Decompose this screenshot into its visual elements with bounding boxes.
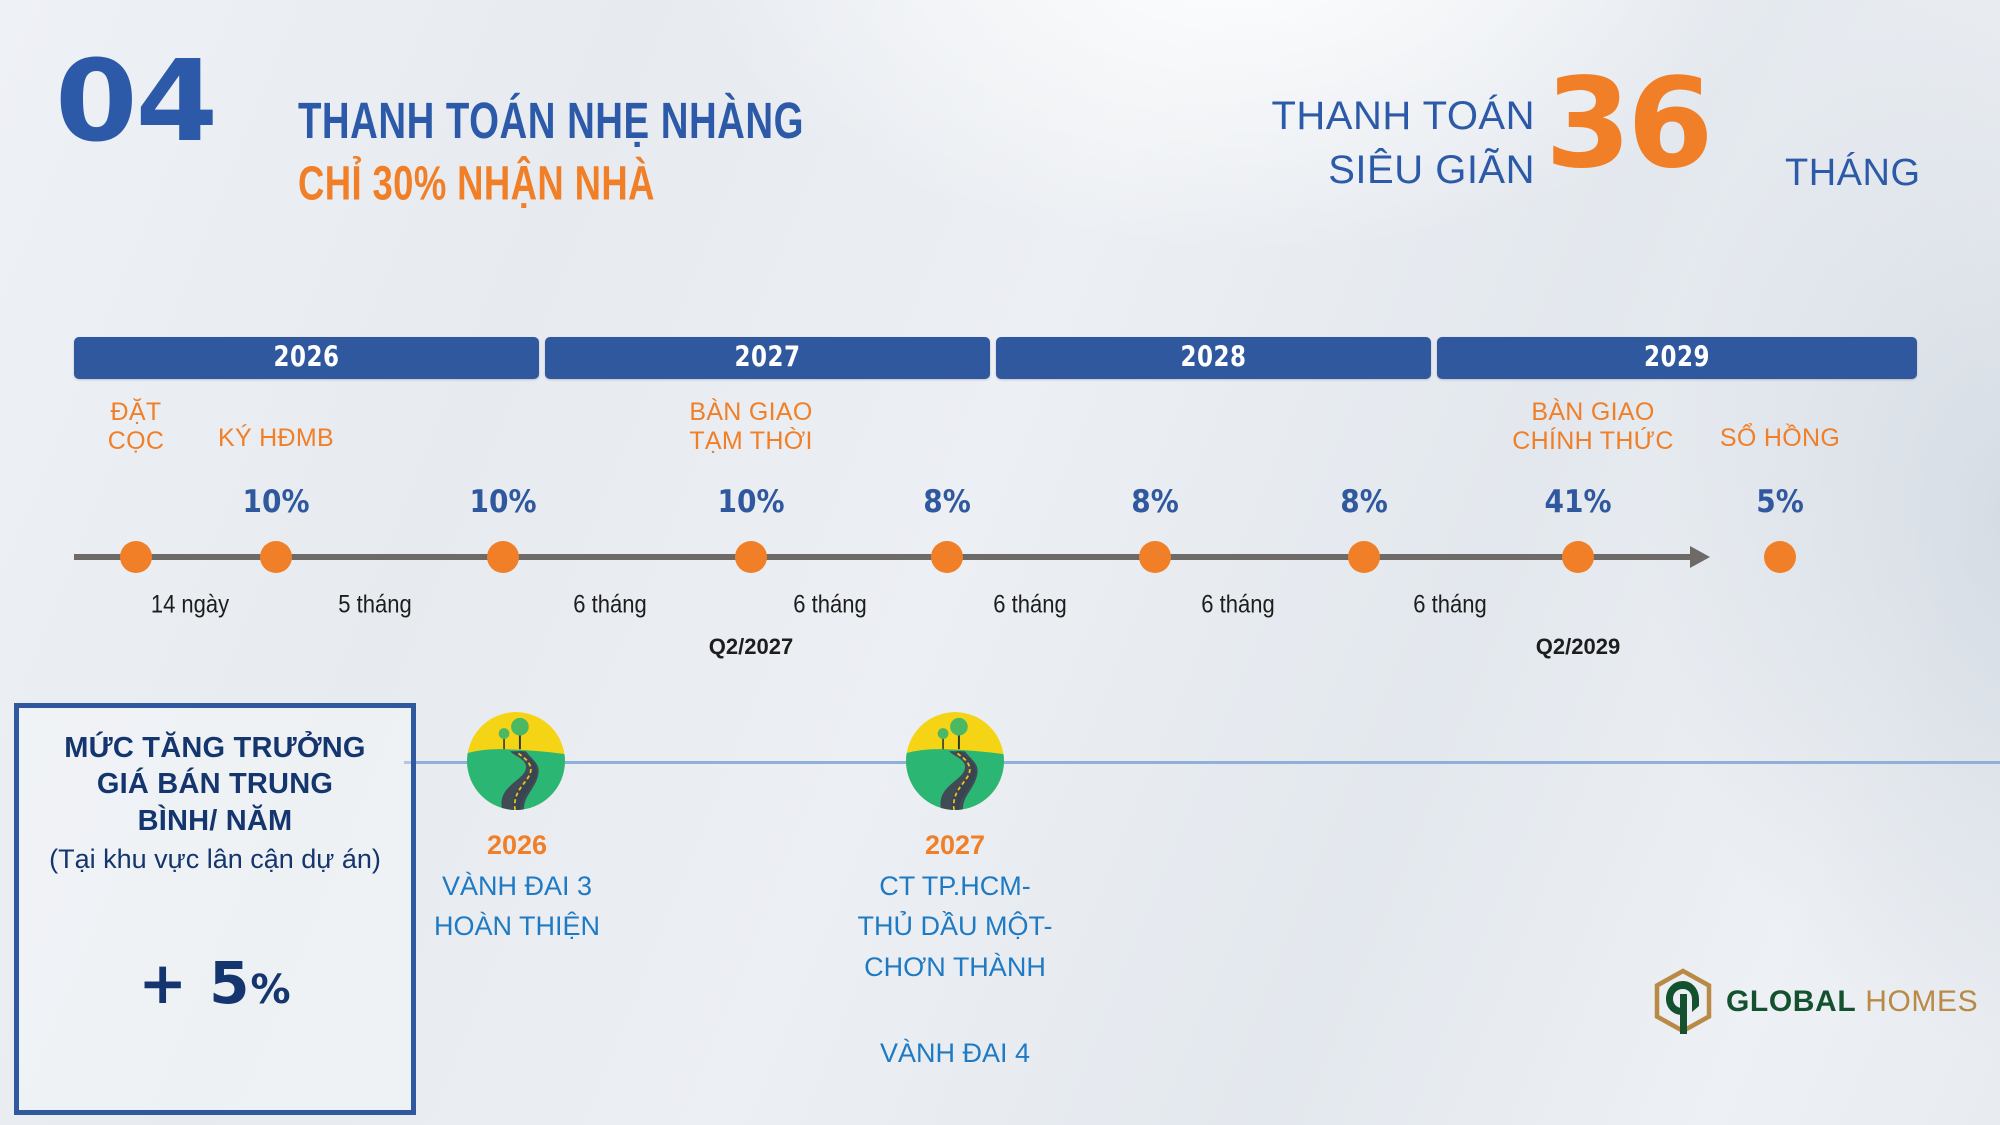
timeline-dot[interactable] [931,541,963,573]
duration-label: 6 tháng [930,590,1130,619]
infra-line: THỦ DẦU MỘT- [805,906,1105,947]
year-bar-label: 2027 [734,342,800,374]
infographic-slide: 04 THANH TOÁN NHẸ NHÀNG CHỈ 30% NHẬN NHÀ… [0,0,2000,1125]
milestone-percent: 10% [176,483,376,519]
duration-label: 5 tháng [275,590,475,619]
growth-title-line: GIÁ BÁN TRUNG [64,766,365,802]
duration-label: 6 tháng [1138,590,1338,619]
timeline-dot[interactable] [735,541,767,573]
infra-line: CT TP.HCM- [805,866,1105,907]
milestone-percent: 8% [1264,483,1464,519]
brand-name: GLOBAL HOMES [1726,985,1978,1019]
infra-connector-line [404,761,2000,764]
infra-extra-label: VÀNH ĐAI 4 [805,1038,1105,1069]
section-number: 04 [55,46,216,158]
infra-year: 2026 [367,825,667,866]
payment-term-months: 36 [1545,62,1710,186]
milestone-percent: 5% [1680,483,1880,519]
growth-box-subtitle: (Tại khu vực lân cận dự án) [27,843,403,877]
duration-label: 6 tháng [730,590,930,619]
milestone-label-line: SỔ HỒNG [1680,424,1880,453]
year-bar-2029: 2029 [1437,337,1917,379]
milestone-percent: 10% [403,483,603,519]
growth-title-line: BÌNH/ NĂM [64,803,365,839]
growth-rate-box: MỨC TĂNG TRƯỞNG GIÁ BÁN TRUNG BÌNH/ NĂM … [14,703,416,1115]
growth-value-number: + 5 [138,949,250,1017]
brand-name-bold: GLOBAL [1726,985,1856,1018]
milestone-label-ban-giao-tam-thoi: BÀN GIAO TẠM THỜI [651,398,851,456]
global-homes-hexagon-icon [1652,968,1714,1036]
road-landscape-icon [906,712,1004,810]
milestone-label-line: CHÍNH THỨC [1478,427,1708,456]
milestone-percent: 41% [1478,483,1678,519]
infra-line: VÀNH ĐAI 3 [367,866,667,907]
duration-label: 14 ngày [90,590,290,619]
page-title-line1: THANH TOÁN NHẸ NHÀNG [298,96,804,147]
year-bar-2028: 2028 [996,337,1431,379]
payment-term-line2: SIÊU GIÃN [1328,148,1535,193]
milestone-label-ky-hdmb: KÝ HĐMB [176,424,376,453]
timeline-axis [74,554,1694,560]
growth-title-line: MỨC TĂNG TRƯỞNG [64,730,365,766]
milestone-label-line: KÝ HĐMB [176,424,376,453]
timeline-arrow-icon [1690,546,1710,568]
infra-year: 2027 [805,825,1105,866]
payment-term-line1: THANH TOÁN [1271,94,1535,139]
brand-logo: GLOBAL HOMES [1652,968,1978,1036]
brand-name-light: HOMES [1856,985,1978,1018]
infra-line: CHƠN THÀNH [805,947,1105,988]
page-title-line2: CHỈ 30% NHẬN NHÀ [298,160,655,209]
quarter-label: Q2/2029 [1478,634,1678,660]
year-bar-label: 2026 [273,342,339,374]
road-landscape-icon [467,712,565,810]
timeline-dot[interactable] [487,541,519,573]
milestone-percent: 10% [651,483,851,519]
milestone-label-line: TẠM THỜI [651,427,851,456]
quarter-label: Q2/2027 [651,634,851,660]
milestone-label-line: BÀN GIAO [651,398,851,427]
growth-box-title: MỨC TĂNG TRƯỞNG GIÁ BÁN TRUNG BÌNH/ NĂM [64,730,365,839]
timeline-dot[interactable] [120,541,152,573]
growth-box-value: + 5% [138,949,291,1017]
duration-label: 6 tháng [510,590,710,619]
year-bar-label: 2029 [1644,342,1710,374]
timeline-dot[interactable] [1348,541,1380,573]
duration-label: 6 tháng [1350,590,1550,619]
milestone-label-line: BÀN GIAO [1478,398,1708,427]
year-bar-2027: 2027 [545,337,990,379]
milestone-label-ban-giao-chinh-thuc: BÀN GIAO CHÍNH THỨC [1478,398,1708,456]
year-bar-2026: 2026 [74,337,539,379]
infra-line: HOÀN THIỆN [367,906,667,947]
payment-term-unit: THÁNG [1785,152,1921,195]
milestone-percent: 8% [1055,483,1255,519]
infra-caption-2: 2027 CT TP.HCM- THỦ DẦU MỘT- CHƠN THÀNH [805,825,1105,987]
payment-term-callout: THANH TOÁN SIÊU GIÃN 36 THÁNG [1285,90,1985,200]
timeline-dot[interactable] [1562,541,1594,573]
milestone-label-line: ĐẶT [36,398,236,427]
growth-value-percent-sign: % [251,967,292,1013]
timeline-dot[interactable] [1139,541,1171,573]
timeline-dot[interactable] [260,541,292,573]
milestone-percent: 8% [847,483,1047,519]
timeline-dot[interactable] [1764,541,1796,573]
infra-caption-1: 2026 VÀNH ĐAI 3 HOÀN THIỆN [367,825,667,947]
milestone-label-so-hong: SỔ HỒNG [1680,424,1880,453]
year-bar-label: 2028 [1180,342,1246,374]
